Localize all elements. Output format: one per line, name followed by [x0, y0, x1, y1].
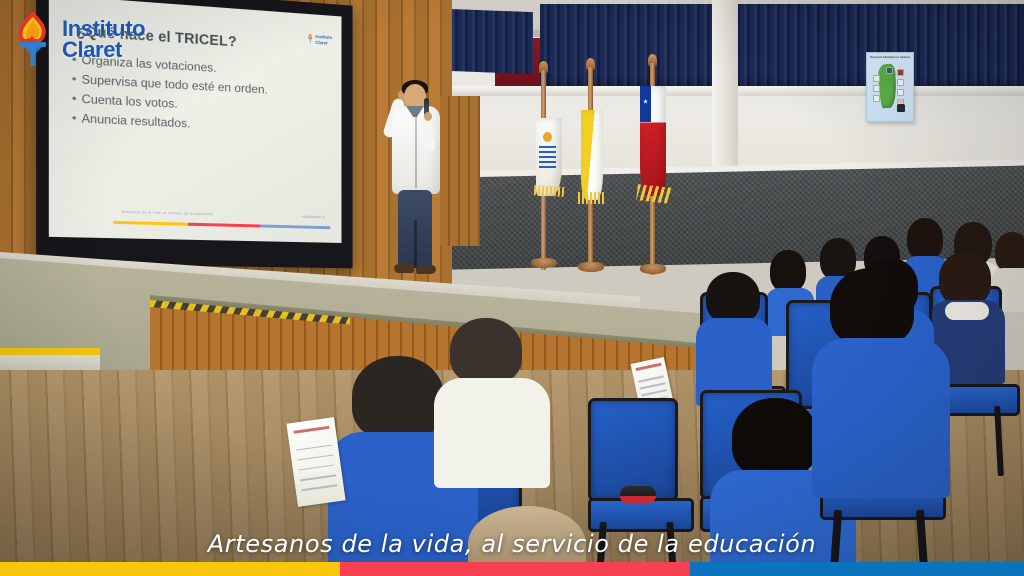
poster-person-figure [896, 99, 905, 112]
torch-icon [10, 12, 56, 68]
brand-bar-yellow [0, 562, 340, 576]
presenter-shoe [394, 264, 414, 273]
chile-flag-fringe [636, 184, 671, 203]
presenter-shoe [416, 265, 436, 274]
torch-icon [307, 34, 314, 45]
student [822, 268, 932, 498]
presenter-coat-seam [415, 116, 417, 188]
slide-footer-text: Artesanos de la vida, al servicio de la … [122, 210, 214, 217]
flag-base [578, 262, 604, 272]
slide-footer-url: institutoclaret.cl [302, 215, 325, 220]
slide-logo-text: Instituto Claret [315, 34, 332, 46]
stair-nosing [0, 348, 100, 355]
student [440, 318, 540, 478]
school-flag-emblem [543, 132, 552, 142]
student [700, 272, 764, 398]
brand-bar-red [340, 562, 690, 576]
brand-color-bar [0, 562, 1024, 576]
brand-bar-blue [690, 562, 1024, 576]
poster-icon [897, 79, 904, 86]
poster-icon [873, 85, 880, 92]
poster-icon [897, 69, 904, 76]
assembly-photo: Presencia Claretiana en América ¿Qué hac… [0, 0, 1024, 576]
vatican-flag [581, 110, 603, 200]
brand-name: Instituto Claret [62, 19, 145, 61]
school-flag-text [539, 146, 556, 168]
presenter-speaker [378, 72, 458, 282]
brand-name-line2: Claret [62, 40, 145, 61]
poster-icon [873, 95, 880, 102]
presenter-leg-gap [414, 220, 417, 268]
vatican-flag-fringe [578, 192, 606, 204]
poster-icon [897, 89, 904, 96]
torch-icon-svg [10, 12, 56, 68]
brand-logo: Instituto Claret [10, 12, 145, 68]
presenter-hand [424, 112, 432, 121]
flag-base [640, 264, 666, 274]
slide-corner-logo: Instituto Claret [307, 33, 332, 46]
slide-logo-line2: Claret [315, 40, 327, 46]
slide-footer-colorbar [113, 221, 330, 229]
chile-flag-canton [640, 86, 651, 122]
wall-poster: Presencia Claretiana en América [866, 52, 914, 122]
poster-icon [886, 67, 893, 74]
poster-title: Presencia Claretiana en América [867, 56, 913, 59]
school-flag-fringe [534, 185, 565, 197]
flag-base [531, 258, 557, 268]
poster-icon [873, 75, 880, 82]
student-shoe-sole [620, 496, 656, 503]
stage-curtain [540, 4, 1024, 90]
